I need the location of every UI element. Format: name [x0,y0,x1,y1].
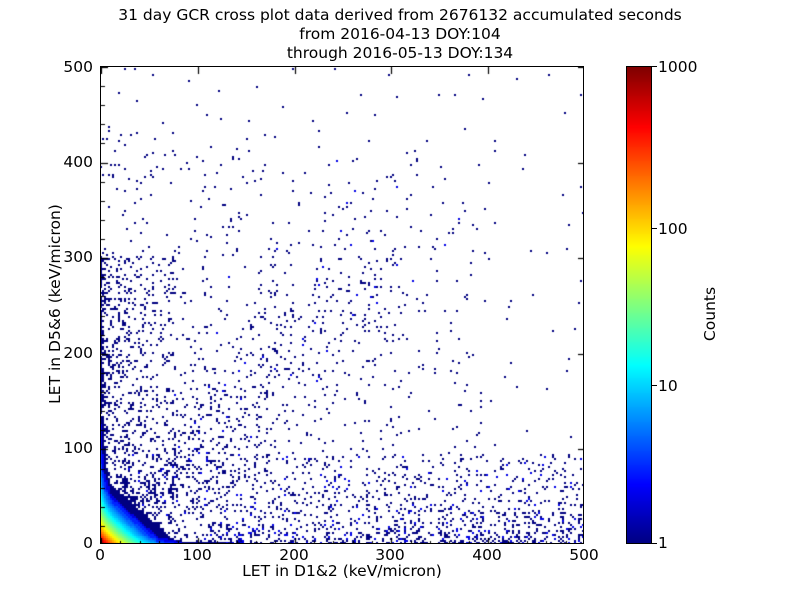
colorbar-tick-mark-100 [652,228,657,229]
chart-title-line-1: 31 day GCR cross plot data derived from … [0,6,800,25]
colorbar-tick-label-1000: 1000 [658,58,697,76]
chart-title: 31 day GCR cross plot data derived from … [0,6,800,63]
colorbar-tick-mark-10 [652,385,657,386]
colorbar-tick-mark-1 [652,543,657,544]
colorbar-gradient [627,67,652,544]
chart-title-line-2: from 2016-04-13 DOY:104 [0,25,800,44]
colorbar-label: Counts [701,224,719,404]
density-scatter-plot [101,67,584,544]
colorbar-tick-label-1: 1 [658,534,668,552]
colorbar-tick-label-10: 10 [658,377,678,395]
colorbar [626,66,652,544]
y-axis-label: LET in D5&6 (keV/micron) [46,139,64,469]
figure-canvas: 31 day GCR cross plot data derived from … [0,0,800,600]
x-axis-label: LET in D1&2 (keV/micron) [100,562,584,580]
plot-area [100,66,584,544]
colorbar-tick-label-100: 100 [658,220,688,238]
y-tick-label-500: 500 [3,58,93,76]
colorbar-tick-mark-1000 [652,66,657,67]
